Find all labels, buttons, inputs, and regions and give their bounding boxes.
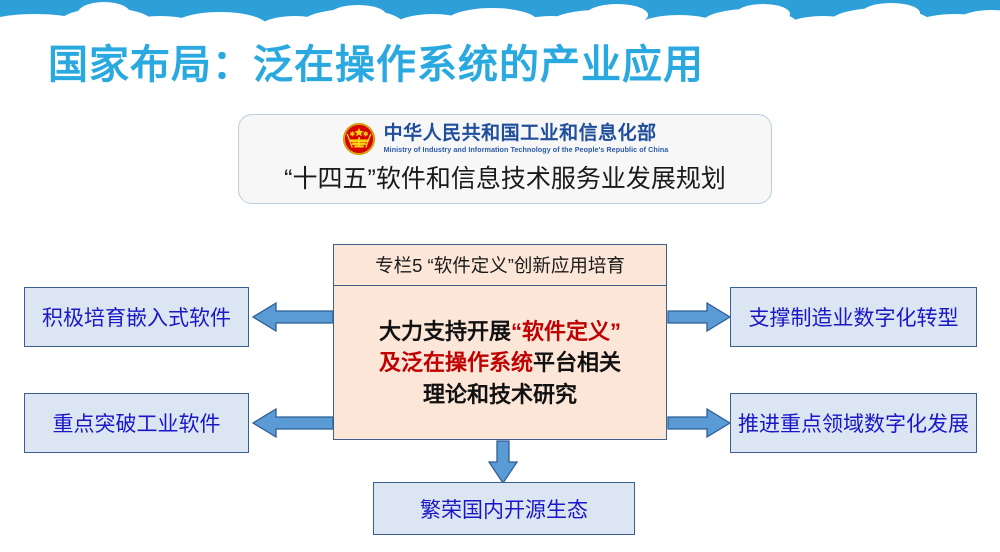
body-line1-highlight: “软件定义” — [511, 319, 621, 344]
slide-canvas: 国家布局：泛在操作系统的产业应用 中华人 — [0, 0, 1000, 552]
arrow-left-bottom — [252, 407, 334, 439]
ministry-name-cn: 中华人民共和国工业和信息化部 — [384, 124, 657, 144]
cloud-banner — [0, 0, 1000, 36]
arrow-right-top — [667, 301, 731, 333]
center-policy-box: 专栏5 “软件定义”创新应用培育 大力支持开展“软件定义” 及泛在操作系统平台相… — [333, 244, 667, 440]
outcome-box-bottom[interactable]: 繁荣国内开源生态 — [373, 482, 635, 535]
body-line2-highlight: 及泛在操作系统 — [379, 350, 533, 375]
outcome-box-left-top[interactable]: 积极培育嵌入式软件 — [24, 287, 249, 347]
body-line2-post: 平台相关 — [533, 350, 621, 375]
arrow-left-top — [252, 301, 334, 333]
arrow-right-bottom — [667, 407, 731, 439]
body-line1-pre: 大力支持开展 — [379, 319, 511, 344]
plan-title: “十四五”软件和信息技术服务业发展规划 — [239, 159, 771, 195]
china-national-emblem-icon — [342, 122, 376, 156]
ministry-plan-card: 中华人民共和国工业和信息化部 Ministry of Industry and … — [238, 114, 772, 204]
outcome-box-left-bottom[interactable]: 重点突破工业软件 — [24, 393, 249, 453]
page-title: 国家布局：泛在操作系统的产业应用 — [48, 32, 704, 90]
cloud-puff — [862, 3, 920, 23]
cloud-puff — [330, 5, 386, 25]
center-box-header: 专栏5 “软件定义”创新应用培育 — [334, 245, 666, 286]
center-box-body: 大力支持开展“软件定义” 及泛在操作系统平台相关 理论和技术研究 — [334, 286, 666, 440]
outcome-box-right-top[interactable]: 支撑制造业数字化转型 — [730, 287, 977, 347]
arrow-down — [487, 440, 519, 484]
ministry-name-en: Ministry of Industry and Information Tec… — [384, 146, 669, 154]
cloud-puff — [78, 2, 130, 24]
cloud-puff — [736, 4, 790, 24]
ministry-brand: 中华人民共和国工业和信息化部 Ministry of Industry and … — [239, 122, 771, 156]
body-line3: 理论和技术研究 — [423, 382, 577, 407]
ministry-names: 中华人民共和国工业和信息化部 Ministry of Industry and … — [384, 124, 669, 154]
outcome-box-right-bottom[interactable]: 推进重点领域数字化发展 — [730, 393, 977, 453]
